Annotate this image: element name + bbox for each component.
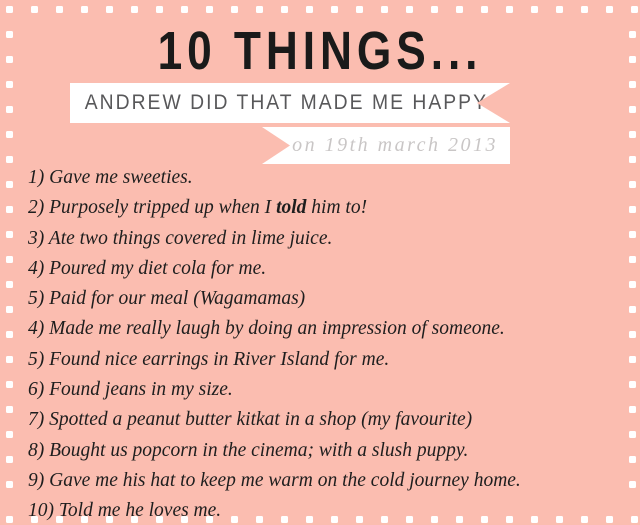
border-dot (56, 6, 63, 13)
page-title: 10 THINGS... (58, 22, 583, 80)
list-item: 10) Told me he loves me. (28, 496, 620, 525)
border-dot (356, 6, 363, 13)
list-item: 8) Bought us popcorn in the cinema; with… (28, 436, 620, 466)
list-item-number: 2) (28, 197, 49, 218)
list-item-number: 4) (28, 258, 49, 279)
list-item-number: 8) (28, 440, 49, 461)
list-item: 1) Gave me sweeties. (28, 163, 620, 193)
border-dot (556, 6, 563, 13)
border-dot (281, 6, 288, 13)
border-dot (256, 6, 263, 13)
list-item-number: 1) (28, 167, 49, 188)
border-dot (6, 281, 13, 288)
border-dot (331, 6, 338, 13)
border-dot (6, 306, 13, 313)
list-item-text: Gave me sweeties. (49, 167, 193, 188)
list-item: 4) Made me really laugh by doing an impr… (28, 314, 620, 344)
list-item-text: Spotted a peanut butter kitkat in a shop… (49, 409, 472, 430)
border-dot (6, 481, 13, 488)
list-item-number: 5) (28, 288, 49, 309)
border-dot (629, 431, 636, 438)
list-item: 7) Spotted a peanut butter kitkat in a s… (28, 405, 620, 435)
border-dot (6, 31, 13, 38)
border-dot (629, 331, 636, 338)
list-item-text: Bought us popcorn in the cinema; with a … (49, 440, 468, 461)
border-dot (181, 6, 188, 13)
list-item-text: Ate two things covered in lime juice. (49, 228, 333, 249)
list-item: 4) Poured my diet cola for me. (28, 254, 620, 284)
list-item-text: Gave me his hat to keep me warm on the c… (49, 470, 521, 491)
border-dot (406, 6, 413, 13)
banner-notch-right (477, 83, 510, 123)
list-item: 2) Purposely tripped up when I told him … (28, 193, 620, 223)
list-item-number: 4) (28, 318, 49, 339)
things-list: 1) Gave me sweeties.2) Purposely tripped… (28, 163, 620, 525)
border-dot (629, 381, 636, 388)
border-dot (629, 56, 636, 63)
border-dot (156, 6, 163, 13)
border-dot (31, 6, 38, 13)
border-dot (6, 131, 13, 138)
list-item-text: Made me really laugh by doing an impress… (49, 318, 505, 339)
subtitle-text: ANDREW DID THAT MADE ME HAPPY: (70, 83, 475, 123)
list-item-number: 9) (28, 470, 49, 491)
border-dot (629, 281, 636, 288)
border-dot (629, 206, 636, 213)
border-dot (629, 256, 636, 263)
border-dot (629, 481, 636, 488)
border-dot (629, 456, 636, 463)
list-item-number: 3) (28, 228, 49, 249)
border-dot (6, 431, 13, 438)
border-dot (631, 6, 638, 13)
border-dot (629, 31, 636, 38)
border-dot (456, 6, 463, 13)
list-item-emphasis: told (276, 197, 306, 218)
border-dot (6, 156, 13, 163)
border-dot (6, 456, 13, 463)
border-dot (306, 6, 313, 13)
list-item: 5) Found nice earrings in River Island f… (28, 345, 620, 375)
border-dot (231, 6, 238, 13)
border-dot (6, 406, 13, 413)
list-item: 3) Ate two things covered in lime juice. (28, 224, 620, 254)
border-dot (6, 516, 13, 523)
border-dot (206, 6, 213, 13)
border-dot (631, 516, 638, 523)
list-item-number: 5) (28, 349, 49, 370)
border-dot (6, 106, 13, 113)
border-dot (6, 231, 13, 238)
date-banner: on 19th march 2013 (262, 127, 510, 164)
border-dot (6, 81, 13, 88)
border-dot (506, 6, 513, 13)
border-dot (6, 381, 13, 388)
list-item-number: 10) (28, 500, 59, 521)
border-dot (81, 6, 88, 13)
border-dot (629, 131, 636, 138)
border-dot (581, 6, 588, 13)
border-dot (6, 56, 13, 63)
list-item-text: Found nice earrings in River Island for … (49, 349, 389, 370)
border-dot (629, 106, 636, 113)
subtitle-banner: ANDREW DID THAT MADE ME HAPPY: (70, 83, 510, 123)
list-item-text: Paid for our meal (Wagamamas) (49, 288, 305, 309)
list-item-number: 6) (28, 379, 49, 400)
border-dot (481, 6, 488, 13)
border-dot (6, 6, 13, 13)
list-item-text: Found jeans in my size. (49, 379, 233, 400)
list-item: 5) Paid for our meal (Wagamamas) (28, 284, 620, 314)
border-dot (629, 181, 636, 188)
border-dot (6, 206, 13, 213)
border-dot (6, 181, 13, 188)
list-item: 9) Gave me his hat to keep me warm on th… (28, 466, 620, 496)
border-dot (431, 6, 438, 13)
border-dot (131, 6, 138, 13)
border-dot (6, 256, 13, 263)
border-dot (629, 406, 636, 413)
poster-canvas: 10 THINGS... ANDREW DID THAT MADE ME HAP… (0, 0, 640, 525)
list-item-number: 7) (28, 409, 49, 430)
border-dot (629, 81, 636, 88)
border-dot (606, 6, 613, 13)
border-dot (6, 331, 13, 338)
date-text: on 19th march 2013 (262, 127, 510, 164)
border-dot (6, 356, 13, 363)
list-item: 6) Found jeans in my size. (28, 375, 620, 405)
border-dot (106, 6, 113, 13)
list-item-text: Told me he loves me. (59, 500, 221, 521)
border-dot (531, 6, 538, 13)
border-dot (629, 356, 636, 363)
border-dot (629, 156, 636, 163)
border-dot (629, 306, 636, 313)
border-dot (381, 6, 388, 13)
border-dot (629, 231, 636, 238)
list-item-text: Poured my diet cola for me. (49, 258, 266, 279)
